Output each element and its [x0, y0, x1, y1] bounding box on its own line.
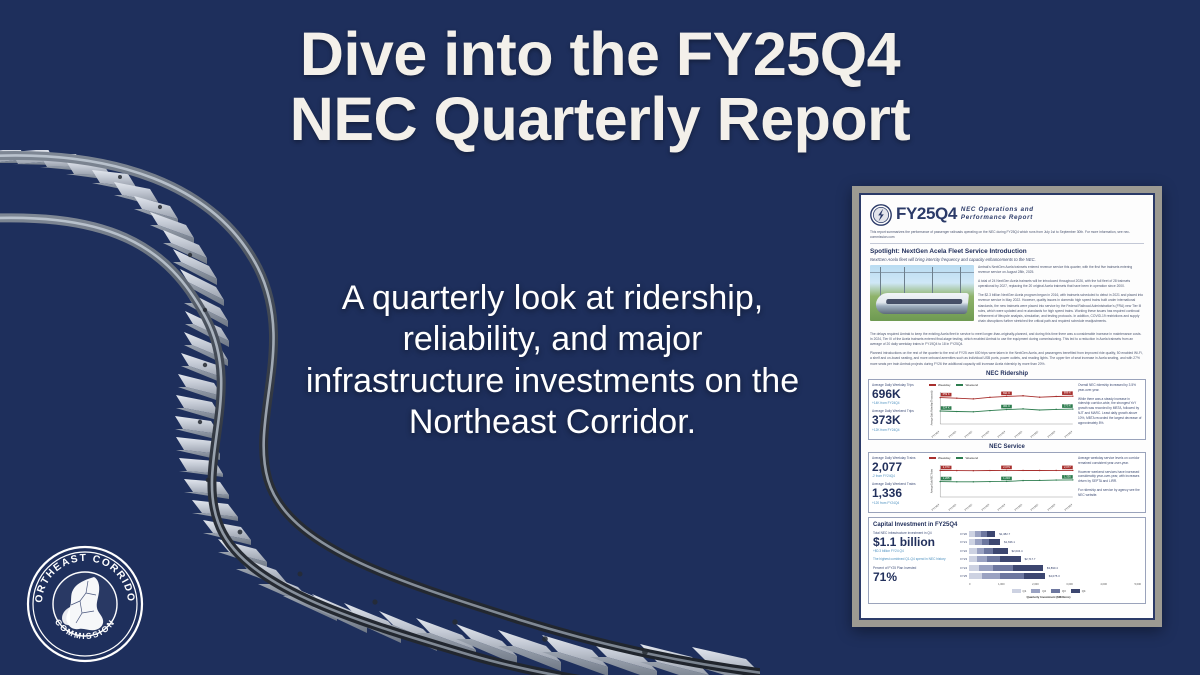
capital-bar-row: FY25$4,075.3	[956, 573, 1141, 579]
capital-bar-category: FY21	[956, 540, 967, 544]
service-stat-1-value: 1,336	[872, 487, 926, 500]
capital-legend-item: Q3	[1051, 589, 1066, 593]
ridership-note-0: Overall NEC ridership increased by 3.5% …	[1078, 383, 1142, 393]
capital-xlabel: Quarterly Investment ($Millions)	[956, 595, 1141, 599]
capital-legend: Q1Q2Q3Q4	[956, 589, 1141, 593]
promo-graphic: Dive into the FY25Q4 NEC Quarterly Repor…	[0, 0, 1200, 675]
spotlight-body: Amtrak's NextGen Acela trainsets entered…	[866, 265, 1148, 328]
svg-text:324 K: 324 K	[943, 405, 950, 409]
report-title-line-1: NEC Operations and	[961, 206, 1034, 214]
xtick: FY24Q1	[948, 503, 957, 511]
ridership-section: Average Daily Weekday Trips 696K +14K fr…	[868, 379, 1146, 440]
service-chart: Weekday Weekend 2,0702,0792,0771,2051,21…	[929, 456, 1075, 509]
headline-line-2: NEC Quarterly Report	[0, 87, 1200, 152]
service-notes: Average weekday service levels on corrid…	[1078, 456, 1142, 509]
capital-bar-category: FY24	[956, 566, 967, 570]
acela-train-photo	[870, 265, 974, 321]
xtick: FY25Q1	[1014, 430, 1023, 438]
capital-xtick: 0	[969, 583, 970, 586]
capital-xtick: 3,000	[1066, 583, 1073, 586]
xtick: FY24Q4	[998, 430, 1007, 438]
report-page[interactable]: FY25Q4 NEC Operations and Performance Re…	[859, 193, 1155, 620]
capital-bar-row: FY21$1,636.1	[956, 539, 1141, 545]
capital-bar-category: FY25	[956, 574, 967, 578]
header-divider	[870, 243, 1144, 244]
ridership-legend: Weekday Weekend	[929, 383, 1075, 387]
capital-bar-total: $1,382.7	[999, 532, 1010, 536]
xtick: FY24Q3	[981, 503, 990, 511]
spotlight-lede: NextGen Acela fleet will bring intercity…	[866, 255, 1148, 265]
xtick: FY25Q3	[1047, 503, 1056, 511]
svg-text:Average Daily NEC Trains: Average Daily NEC Trains	[930, 468, 933, 493]
report-title-line-2: Performance Report	[961, 214, 1034, 222]
capital-xaxis-ticks: 01,0002,0003,0004,0005,000	[956, 582, 1141, 586]
capital-legend-item: Q1	[1012, 589, 1027, 593]
service-legend: Weekday Weekend	[929, 456, 1075, 460]
capital-bar-total: $2,034.4	[1012, 549, 1023, 553]
svg-text:2,077: 2,077	[1064, 465, 1071, 469]
service-section: Average Daily Weekday Trains 2,077 -2 fr…	[868, 452, 1146, 513]
xtick: FY23Q4	[931, 430, 940, 438]
capital-bar-row: FY24$3,890.4	[956, 565, 1141, 571]
xtick: FY25Q4	[1064, 430, 1073, 438]
capital-xtick: 2,000	[1032, 583, 1039, 586]
service-note-0: Average weekday service levels on corrid…	[1078, 456, 1142, 466]
ridership-line-plot: 659 K691 K696 K324 K361 K373 KAverage Da…	[929, 388, 1075, 428]
capital-bar-stack	[969, 573, 1045, 579]
service-stats: Average Daily Weekday Trains 2,077 -2 fr…	[872, 456, 926, 509]
service-legend-0: Weekday	[938, 456, 950, 460]
spotlight-wide-paragraphs: The delays required Amtrak to keep the e…	[866, 328, 1148, 367]
capital-bar-category: FY20	[956, 532, 967, 536]
report-thumbnail-frame[interactable]: FY25Q4 NEC Operations and Performance Re…	[852, 186, 1162, 627]
capital-stat-0-delta: +$0.3 billion FY24 Q4	[873, 549, 951, 553]
capital-stat-1-value: 71%	[873, 571, 951, 584]
capital-stats: Total NEC infrastructure investment in Q…	[873, 531, 951, 599]
svg-text:2,079: 2,079	[1003, 465, 1010, 469]
service-stat-1-delta: +120 from FY24Q4	[872, 501, 926, 505]
svg-text:373 K: 373 K	[1064, 403, 1071, 407]
capital-bar-total: $2,717.7	[1025, 557, 1036, 561]
ridership-note-1: While there was a steady increase in rid…	[1078, 397, 1142, 427]
ridership-section-title: NEC Ridership	[866, 371, 1148, 377]
ridership-legend-0: Weekday	[938, 383, 950, 387]
xtick: FY25Q4	[1064, 503, 1073, 511]
service-note-2: For ridership and service by agency see …	[1078, 488, 1142, 498]
svg-text:659 K: 659 K	[943, 392, 950, 396]
spotlight-title: Spotlight: NextGen Acela Fleet Service I…	[866, 248, 1148, 255]
xtick: FY24Q4	[998, 503, 1007, 511]
page-subtitle: A quarterly look at ridership, reliabili…	[215, 278, 890, 444]
svg-text:Average Daily Ridership (Thous: Average Daily Ridership (Thousands)	[930, 390, 933, 425]
headline-line-1: Dive into the FY25Q4	[0, 22, 1200, 87]
svg-text:1,336: 1,336	[1064, 474, 1071, 478]
capital-highlight: The highest combined Q1-Q4 spend in NEC …	[873, 557, 951, 561]
xtick: FY24Q2	[964, 503, 973, 511]
service-line-plot: 2,0702,0792,0771,2051,2161,336Average Da…	[929, 461, 1075, 501]
capital-legend-item: Q2	[1031, 589, 1046, 593]
capital-bar-total: $3,890.4	[1047, 566, 1058, 570]
spotlight-para-3: The $2.3 billion NextGen Acela program b…	[978, 293, 1144, 324]
ridership-notes: Overall NEC ridership increased by 3.5% …	[1078, 383, 1142, 436]
subtitle-line-1: A quarterly look at ridership,	[215, 278, 890, 319]
capital-investment-section: Capital Investment in FY25Q4 Total NEC i…	[868, 517, 1146, 604]
xtick: FY25Q1	[1014, 503, 1023, 511]
svg-text:696 K: 696 K	[1064, 391, 1071, 395]
xtick: FY23Q4	[931, 503, 940, 511]
capital-bar-category: FY22	[956, 549, 967, 553]
capital-xtick: 1,000	[998, 583, 1005, 586]
capital-xtick: 4,000	[1100, 583, 1107, 586]
svg-text:1,216: 1,216	[1003, 476, 1010, 480]
spotlight-para-4: The delays required Amtrak to keep the e…	[870, 332, 1144, 347]
svg-text:361 K: 361 K	[1003, 404, 1010, 408]
ridership-legend-1: Weekend	[965, 383, 978, 387]
spotlight-para-1: Amtrak's NextGen Acela trainsets entered…	[978, 265, 1144, 275]
nec-commission-logo: NORTHEAST CORRIDOR COMMISSION	[26, 545, 144, 663]
spotlight-column-right: Amtrak's NextGen Acela trainsets entered…	[978, 265, 1144, 328]
xtick: FY25Q3	[1047, 430, 1056, 438]
capital-stat-0-value: $1.1 billion	[873, 536, 951, 549]
capital-bar-stack	[969, 565, 1043, 571]
capital-xtick: 5,000	[1135, 583, 1142, 586]
subtitle-line-2: reliability, and major	[215, 319, 890, 360]
service-xticks: FY23Q4FY24Q1FY24Q2FY24Q3FY24Q4FY25Q1FY25…	[929, 506, 1075, 509]
capital-bar-row: FY23$2,717.7	[956, 556, 1141, 562]
capital-bar-total: $4,075.3	[1049, 574, 1060, 578]
capital-bar-rows: FY20$1,382.7FY21$1,636.1FY22$2,034.4FY23…	[956, 531, 1141, 580]
svg-text:691 K: 691 K	[1003, 391, 1010, 395]
ridership-stat-0-value: 696K	[872, 388, 926, 401]
ridership-xticks: FY23Q4FY24Q1FY24Q2FY24Q3FY24Q4FY25Q1FY25…	[929, 433, 1075, 436]
service-stat-0-value: 2,077	[872, 461, 926, 474]
report-title: NEC Operations and Performance Report	[961, 206, 1034, 223]
service-legend-1: Weekend	[965, 456, 978, 460]
ridership-stat-1-delta: +12K from FY24Q4	[872, 428, 926, 432]
ridership-stat-0-delta: +14K from FY24Q4	[872, 401, 926, 405]
service-note-1: However weekend services have increased …	[1078, 470, 1142, 485]
capital-bar-row: FY20$1,382.7	[956, 531, 1141, 537]
capital-bar-stack	[969, 556, 1021, 562]
capital-bar-stack	[969, 548, 1008, 554]
svg-text:1,205: 1,205	[943, 476, 950, 480]
amtrak-nec-logo-icon	[870, 204, 892, 226]
subtitle-line-3: infrastructure investments on the	[215, 361, 890, 402]
xtick: FY25Q2	[1031, 503, 1040, 511]
page-title: Dive into the FY25Q4 NEC Quarterly Repor…	[0, 22, 1200, 151]
capital-bar-stack	[969, 531, 995, 537]
xtick: FY24Q1	[948, 430, 957, 438]
svg-text:2,070: 2,070	[943, 465, 950, 469]
ridership-chart: Weekday Weekend 659 K691 K696 K324 K361 …	[929, 383, 1075, 436]
ridership-stats: Average Daily Weekday Trips 696K +14K fr…	[872, 383, 926, 436]
capital-section-title: Capital Investment in FY25Q4	[873, 522, 1141, 528]
ridership-stat-1-value: 373K	[872, 414, 926, 427]
service-section-title: NEC Service	[866, 444, 1148, 450]
capital-legend-item: Q4	[1071, 589, 1086, 593]
report-fy-label: FY25Q4	[896, 205, 957, 222]
spotlight-para-5: Planned introductions on the rest of the…	[870, 351, 1144, 366]
capital-bar-stack	[969, 539, 1000, 545]
report-header: FY25Q4 NEC Operations and Performance Re…	[866, 199, 1148, 228]
spotlight-para-2: A total of 24 NextGen Acela trainsets wi…	[978, 279, 1144, 289]
capital-bar-row: FY22$2,034.4	[956, 548, 1141, 554]
capital-bar-category: FY23	[956, 557, 967, 561]
xtick: FY25Q2	[1031, 430, 1040, 438]
xtick: FY24Q2	[964, 430, 973, 438]
capital-bar-chart: FY20$1,382.7FY21$1,636.1FY22$2,034.4FY23…	[956, 531, 1141, 599]
xtick: FY24Q3	[981, 430, 990, 438]
service-stat-0-delta: -2 from FY24Q4	[872, 474, 926, 478]
capital-bar-total: $1,636.1	[1004, 540, 1015, 544]
subtitle-line-4: Northeast Corridor.	[215, 402, 890, 443]
report-blurb: This report summarizes the performance o…	[866, 228, 1148, 240]
